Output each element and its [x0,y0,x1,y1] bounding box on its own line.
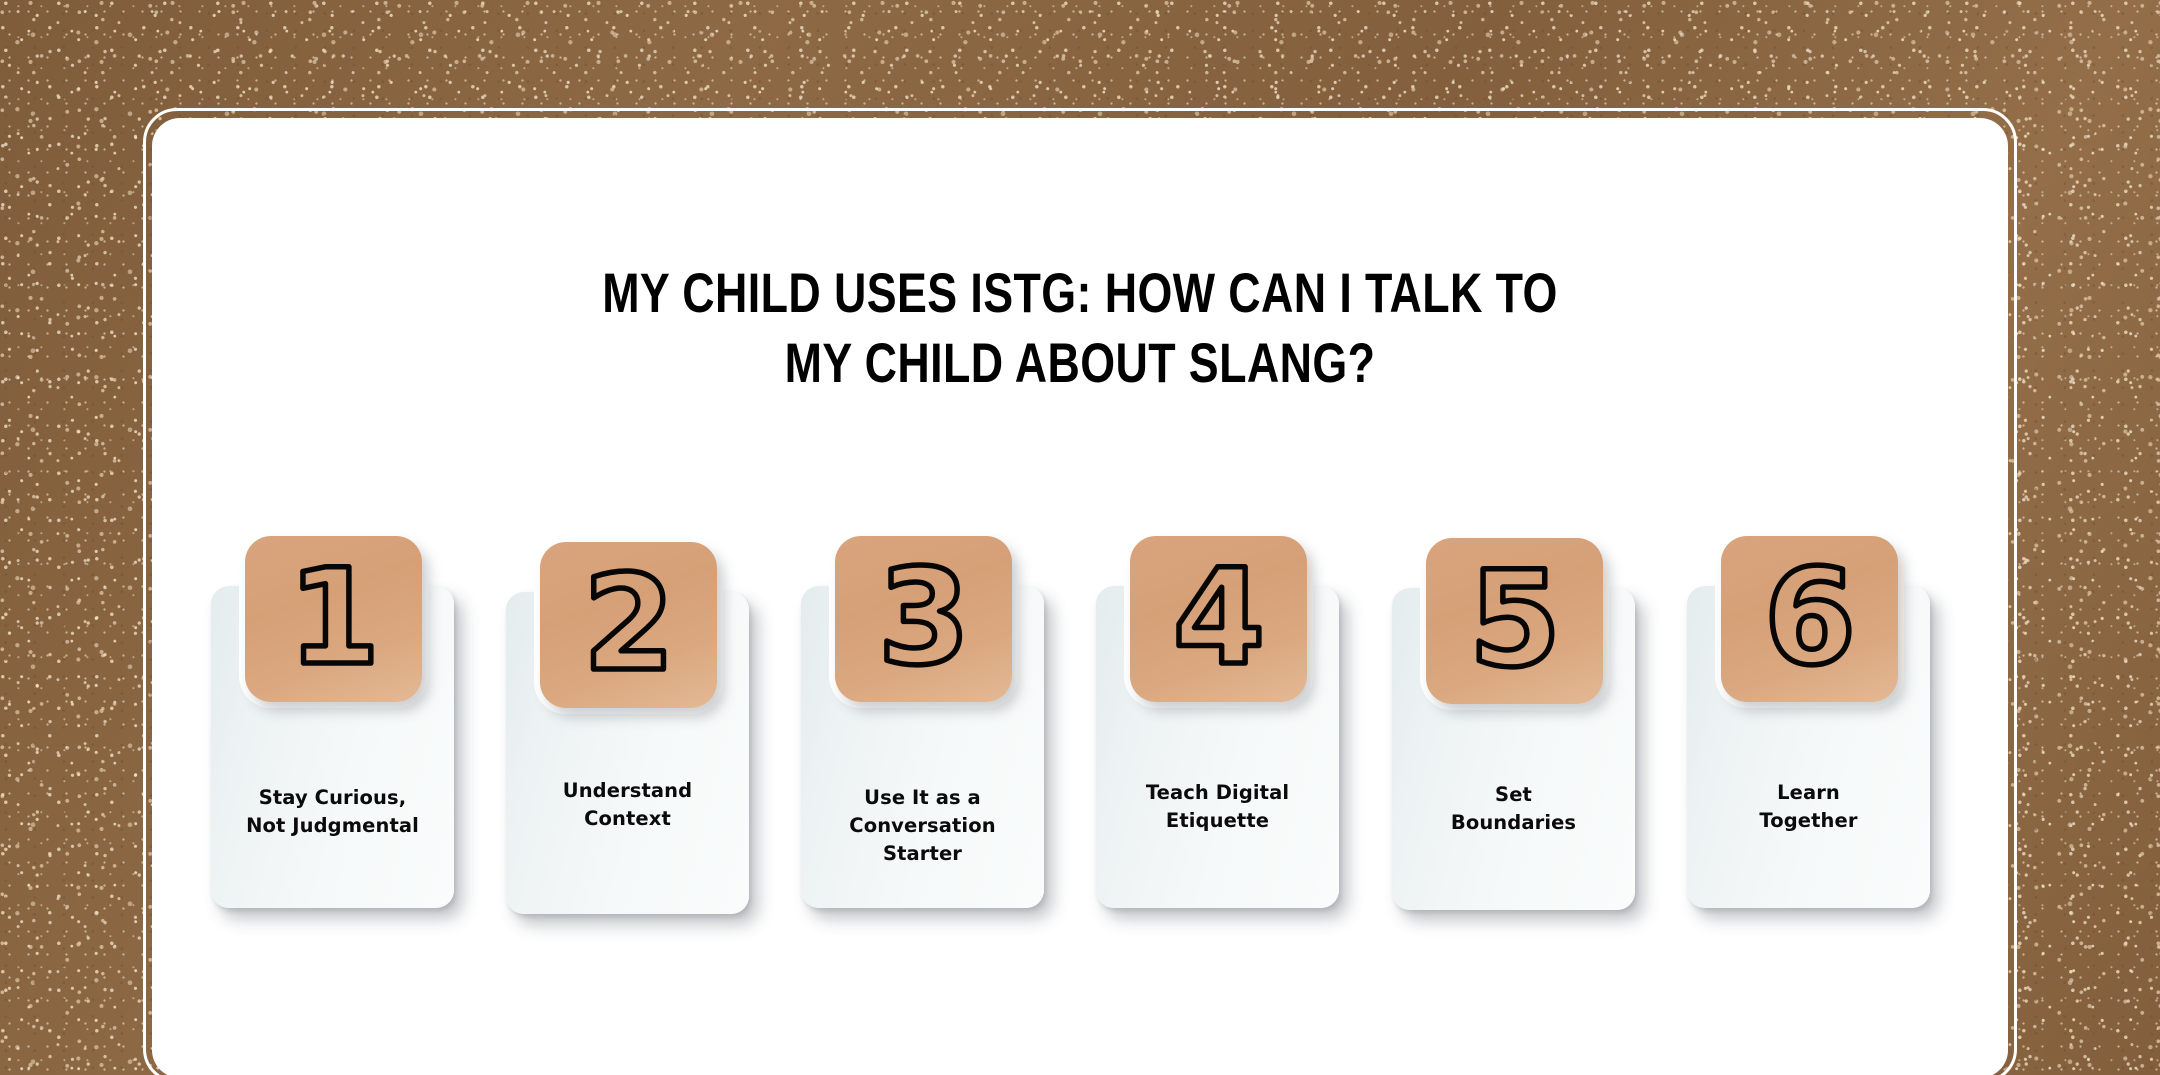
steps-card-row: Stay Curious, Not Judgmental1Understand … [211,536,1951,916]
step-number-text: 2 [583,565,675,685]
step-card[interactable]: Use It as a Conversation Starter3 [801,536,1048,908]
step-number-glyph: 4 [1164,559,1274,679]
step-number-glyph: 5 [1460,561,1570,681]
step-card-label: Set Boundaries [1402,781,1625,837]
step-number-text: 1 [288,559,380,679]
step-card[interactable]: Set Boundaries5 [1392,538,1639,910]
step-card-label: Stay Curious, Not Judgmental [221,784,444,840]
step-card[interactable]: Understand Context2 [506,542,753,914]
step-card-label: Use It as a Conversation Starter [811,784,1034,868]
step-number-badge: 3 [835,536,1012,702]
step-card[interactable]: Learn Together6 [1687,536,1934,908]
step-number-text: 6 [1764,559,1856,679]
step-number-badge: 2 [540,542,717,708]
page-title: MY CHILD USES ISTG: HOW CAN I TALK TO MY… [338,258,1823,398]
step-number-badge: 4 [1130,536,1307,702]
step-card[interactable]: Teach Digital Etiquette4 [1096,536,1343,908]
step-number-badge: 6 [1721,536,1898,702]
step-number-glyph: 2 [574,565,684,685]
content-panel: MY CHILD USES ISTG: HOW CAN I TALK TO MY… [152,118,2008,1075]
step-number-glyph: 3 [869,559,979,679]
step-card-label: Understand Context [516,777,739,833]
step-number-glyph: 1 [279,559,389,679]
step-number-text: 4 [1173,559,1265,679]
step-number-text: 5 [1469,561,1561,681]
step-card-label: Learn Together [1697,779,1920,835]
step-number-badge: 1 [245,536,422,702]
step-number-glyph: 6 [1755,559,1865,679]
step-number-badge: 5 [1426,538,1603,704]
step-card[interactable]: Stay Curious, Not Judgmental1 [211,536,458,908]
step-card-label: Teach Digital Etiquette [1106,779,1329,835]
step-number-text: 3 [878,559,970,679]
poster-canvas: MY CHILD USES ISTG: HOW CAN I TALK TO MY… [0,0,2160,1075]
